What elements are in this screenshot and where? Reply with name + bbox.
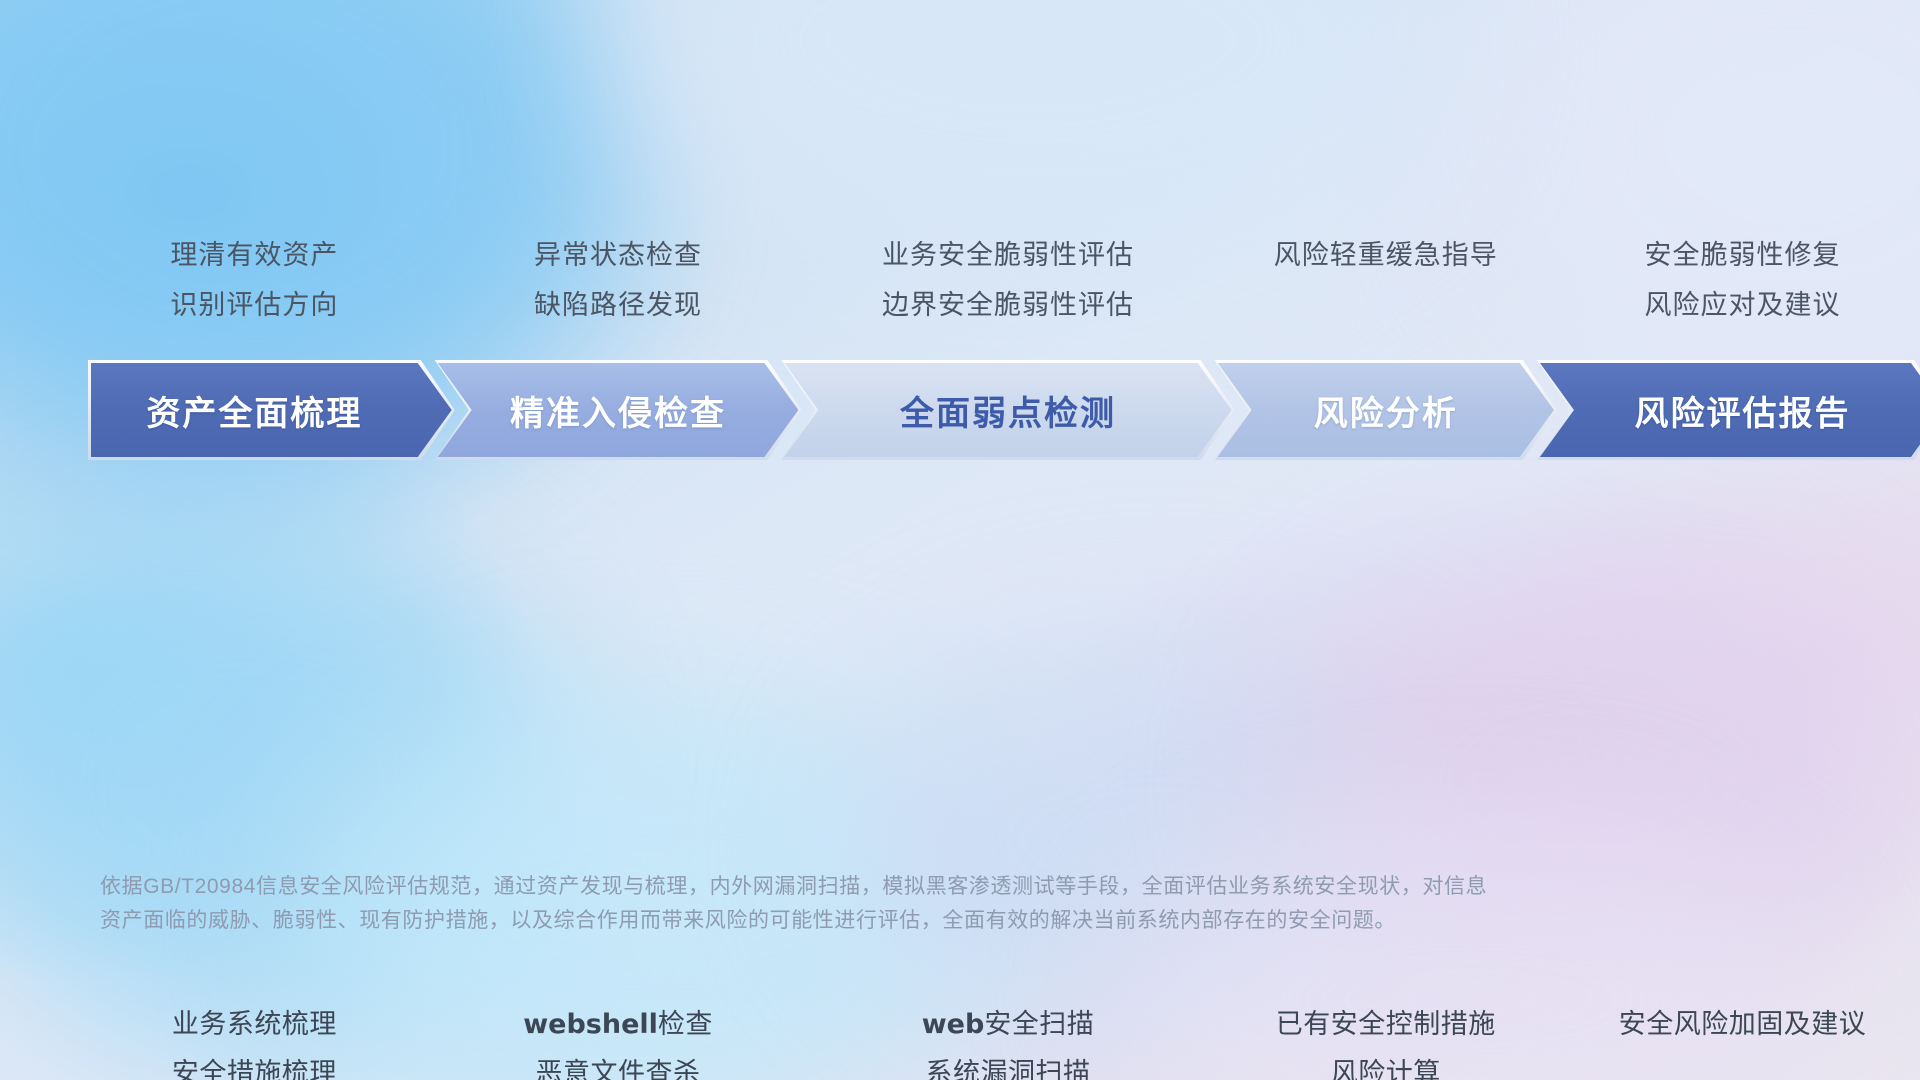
background-blob [1480,0,1920,400]
bottom-item: 风险计算 [1146,1049,1626,1080]
background-blob [0,520,560,1040]
top-column-assessment-report: 安全脆弱性修复风险应对及建议 [1522,230,1920,330]
slide-root: 理清有效资产识别评估方向异常状态检查缺陷路径发现业务安全脆弱性评估边界安全脆弱性… [0,0,1920,1080]
arrow-label-risk-analysis: 风险分析 [1314,386,1458,435]
top-item: 业务安全脆弱性评估 [788,230,1228,280]
top-column-intrusion-check: 异常状态检查缺陷路径发现 [398,230,838,330]
bottom-item-cjk: 风险计算 [1331,1058,1441,1080]
arrow-label-asset-inventory: 资产全面梳理 [146,386,362,435]
process-arrow-intrusion-check[interactable]: 精准入侵检查 [435,360,802,460]
footnote: 依据GB/T20984信息安全风险评估规范，通过资产发现与梳理，内外网漏洞扫描，… [100,870,1660,938]
bottom-item-cjk: 业务系统梳理 [172,1009,337,1039]
bottom-item-cjk: 安全风险加固及建议 [1619,1009,1867,1039]
bottom-item: 安全风险加固及建议 [1502,1000,1920,1049]
process-arrow-weakness-detection[interactable]: 全面弱点检测 [781,360,1234,460]
arrow-label-assessment-report: 风险评估报告 [1634,386,1850,435]
bottom-column-assessment-report: 安全风险加固及建议 [1502,1000,1920,1049]
bottom-item-cjk: 恶意文件查杀 [536,1058,701,1080]
process-arrow-risk-analysis[interactable]: 风险分析 [1215,360,1557,460]
arrow-label-weakness-detection: 全面弱点检测 [900,386,1116,435]
top-item: 缺陷路径发现 [398,280,838,330]
process-arrow-asset-inventory[interactable]: 资产全面梳理 [88,360,455,460]
top-column-weakness-detection: 业务安全脆弱性评估边界安全脆弱性评估 [788,230,1228,330]
bottom-item-cjk: 已有安全控制措施 [1276,1009,1496,1039]
bottom-item-cjk: 安全措施梳理 [172,1058,337,1080]
bottom-item-cjk: 安全扫描 [984,1009,1094,1039]
top-item: 风险应对及建议 [1522,280,1920,330]
process-arrow-assessment-report[interactable]: 风险评估报告 [1537,360,1920,460]
footnote-line-2: 资产面临的威胁、脆弱性、现有防护措施，以及综合作用而带来风险的可能性进行评估，全… [100,904,1660,938]
top-item: 安全脆弱性修复 [1522,230,1920,280]
bottom-item-cjk: 检查 [658,1009,713,1039]
bottom-item-latin: webshell [523,1009,658,1040]
arrow-label-intrusion-check: 精准入侵检查 [510,386,726,435]
bottom-item-latin: web [922,1009,985,1040]
footnote-line-1: 依据GB/T20984信息安全风险评估规范，通过资产发现与梳理，内外网漏洞扫描，… [100,870,1660,904]
bottom-item-cjk: 系统漏洞扫描 [926,1058,1091,1080]
background-blob [840,640,1480,1040]
top-item: 边界安全脆弱性评估 [788,280,1228,330]
process-arrow-band: 资产全面梳理精准入侵检查全面弱点检测风险分析风险评估报告 [0,360,1920,460]
top-item: 异常状态检查 [398,230,838,280]
